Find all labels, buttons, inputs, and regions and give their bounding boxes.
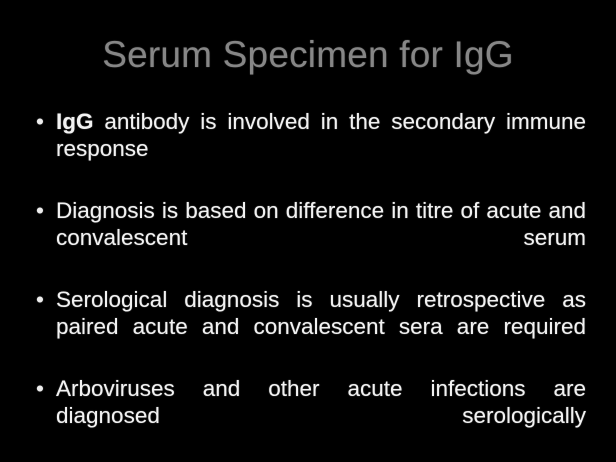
bullet-item: • Arboviruses and other acute infections… [30,375,586,456]
bullet-item: • Serological diagnosis is usually retro… [30,286,586,367]
bullet-item-text: Serological diagnosis is usually retrosp… [56,286,586,367]
bullet-item-text: IgG antibody is involved in the secondar… [56,108,586,189]
bullet-list: • IgG antibody is involved in the second… [30,108,586,462]
bullet-item-body: Arboviruses and other acute infections a… [56,376,586,428]
bullet-item-text: Arboviruses and other acute infections a… [56,375,586,456]
bullet-point-icon: • [36,108,50,135]
bullet-item-body: Diagnosis is based on difference in titr… [56,198,586,250]
bullet-item-text: Diagnosis is based on difference in titr… [56,197,586,278]
bullet-item: • Diagnosis is based on difference in ti… [30,197,586,278]
bullet-point-icon: • [36,197,50,224]
slide-title: Serum Specimen for IgG [0,33,616,77]
bullet-item-body: Serological diagnosis is usually retrosp… [56,287,586,339]
bullet-item-emphasis: IgG [56,109,94,134]
bullet-item-body: antibody is involved in the secondary im… [56,109,586,161]
presentation-slide: Serum Specimen for IgG • IgG antibody is… [0,0,616,462]
bullet-item: • IgG antibody is involved in the second… [30,108,586,189]
bullet-point-icon: • [36,375,50,402]
bullet-point-icon: • [36,286,50,313]
